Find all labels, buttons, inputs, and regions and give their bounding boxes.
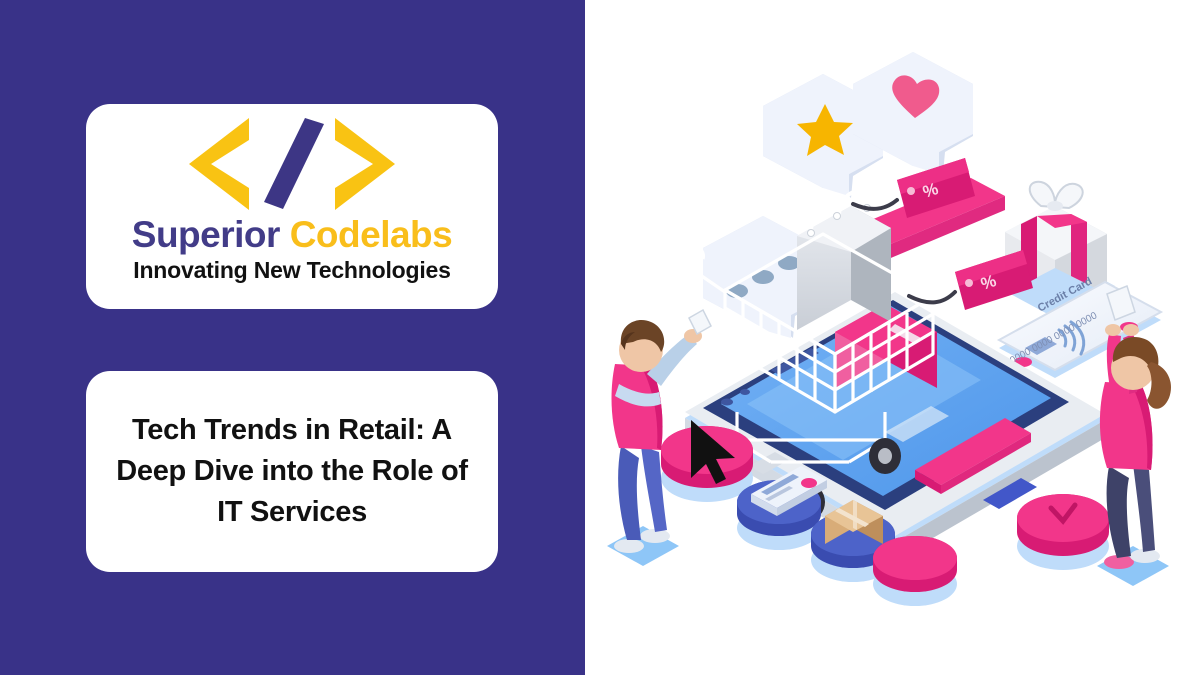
ecommerce-illustration: Credit Card 0000 0000 0000 0000 — [585, 0, 1200, 675]
brand-tagline: Innovating New Technologies — [133, 257, 450, 284]
person-woman-with-phone — [1097, 286, 1171, 586]
title-card: Tech Trends in Retail: A Deep Dive into … — [86, 371, 498, 572]
slide-canvas: Superior Codelabs Innovating New Technol… — [0, 0, 1200, 675]
page-title: Tech Trends in Retail: A Deep Dive into … — [114, 410, 470, 534]
left-purple-panel — [0, 0, 585, 675]
code-brackets-logo — [187, 116, 397, 212]
shopping-bag — [797, 191, 891, 330]
brand-word-second: Codelabs — [290, 214, 453, 255]
discount-tag-lower: % — [909, 250, 1033, 310]
brand-word-first: Superior — [132, 214, 280, 255]
step-pink-plain — [873, 536, 957, 606]
logo-card: Superior Codelabs Innovating New Technol… — [86, 104, 498, 309]
step-clock — [1017, 494, 1109, 570]
brand-wordmark: Superior Codelabs — [132, 216, 452, 255]
